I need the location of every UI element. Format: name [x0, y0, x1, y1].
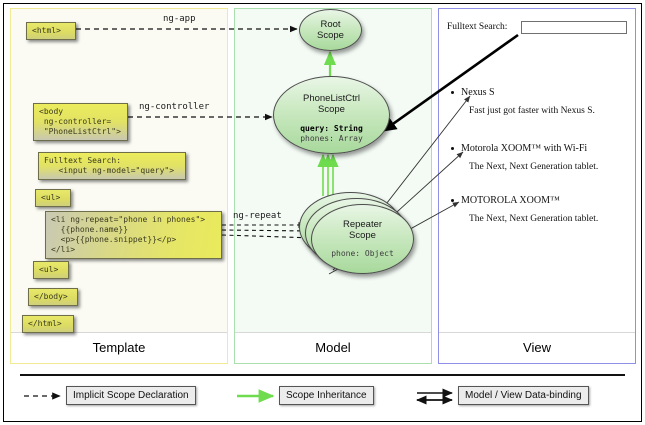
phone-name-text: MOTOROLA XOOM™ — [461, 195, 560, 206]
scope-repeater-title-1: Repeater — [312, 219, 413, 230]
dashed-arrow-icon — [22, 386, 70, 406]
phone-name: Motorola XOOM™ with Wi-Fi — [461, 143, 633, 154]
bullet-icon — [451, 91, 454, 94]
code-box-li-repeat: <li ng-repeat="phone in phones"> {{phone… — [45, 211, 222, 259]
code-box-body-close: </body> — [28, 288, 78, 306]
phone-snippet: The Next, Next Generation tablet. — [469, 162, 633, 172]
view-rendered-output: Fulltext Search: Nexus S Fast just got f… — [439, 9, 637, 335]
scope-phonelistctrl-prop-phones: phones: Array — [274, 134, 389, 144]
panel-model: Model — [234, 8, 432, 364]
phone-name-text: Nexus S — [461, 87, 495, 98]
phone-name: MOTOROLA XOOM™ — [461, 195, 633, 206]
view-search-row: Fulltext Search: — [447, 21, 629, 37]
scope-repeater-title-2: Scope — [312, 230, 413, 241]
double-arrow-icon — [414, 386, 462, 406]
panel-template-label: Template — [11, 332, 227, 363]
code-box-body-open: <body ng-controller= "PhoneListCtrl"> — [33, 103, 128, 141]
phone-snippet: The Next, Next Generation tablet. — [469, 214, 633, 224]
phone-name: Nexus S — [461, 87, 633, 98]
bullet-icon — [451, 147, 454, 150]
fulltext-search-label: Fulltext Search: — [447, 22, 507, 32]
code-box-html-open: <html> — [26, 22, 76, 40]
scope-root: Root Scope — [299, 9, 362, 51]
diagram-page: Template Model Fulltext Search: Nexus S — [0, 0, 645, 425]
green-arrow-icon — [235, 386, 283, 406]
legend: Implicit Scope Declaration Scope Inherit… — [0, 372, 645, 425]
edge-label-ng-controller: ng-controller — [139, 102, 209, 112]
list-item: Motorola XOOM™ with Wi-Fi The Next, Next… — [461, 143, 633, 172]
legend-label-implicit-scope-declaration: Implicit Scope Declaration — [66, 386, 196, 405]
phone-snippet: Fast just got faster with Nexus S. — [469, 106, 633, 116]
scope-root-title-2: Scope — [300, 30, 361, 41]
edge-label-ng-app: ng-app — [163, 14, 196, 24]
code-box-html-close: </html> — [22, 315, 74, 333]
scope-phonelistctrl-title-2: Scope — [274, 104, 389, 115]
legend-label-model-view-data-binding: Model / View Data-binding — [458, 386, 589, 405]
scope-phonelistctrl-title-1: PhoneListCtrl — [274, 93, 389, 104]
bullet-icon — [451, 199, 454, 202]
code-box-ul-open: <ul> — [35, 189, 71, 207]
panel-view: Fulltext Search: Nexus S Fast just got f… — [438, 8, 636, 364]
scope-phonelistctrl-prop-query: query: String — [274, 124, 389, 134]
code-box-ul-close: <ul> — [33, 261, 69, 279]
legend-divider — [20, 374, 625, 376]
scope-repeater: Repeater Scope phone: Object — [311, 204, 414, 274]
fulltext-search-input[interactable] — [521, 21, 627, 34]
list-item: MOTOROLA XOOM™ The Next, Next Generation… — [461, 195, 633, 224]
list-item: Nexus S Fast just got faster with Nexus … — [461, 87, 633, 116]
diagram-canvas: Template Model Fulltext Search: Nexus S — [0, 0, 645, 370]
code-box-fulltext-search: Fulltext Search: <input ng-model="query"… — [38, 152, 186, 180]
panel-view-label: View — [439, 332, 635, 363]
panel-model-body — [235, 9, 431, 333]
panel-template: Template — [10, 8, 228, 364]
legend-label-scope-inheritance: Scope Inheritance — [279, 386, 374, 405]
scope-root-title-1: Root — [300, 19, 361, 30]
panel-model-label: Model — [235, 332, 431, 363]
edge-label-ng-repeat: ng-repeat — [233, 211, 282, 221]
phone-name-text: Motorola XOOM™ with Wi-Fi — [461, 143, 587, 154]
scope-phonelistctrl: PhoneListCtrl Scope query: String phones… — [273, 76, 390, 154]
scope-repeater-prop-phone: phone: Object — [312, 249, 413, 259]
panel-view-body: Fulltext Search: Nexus S Fast just got f… — [439, 9, 635, 333]
